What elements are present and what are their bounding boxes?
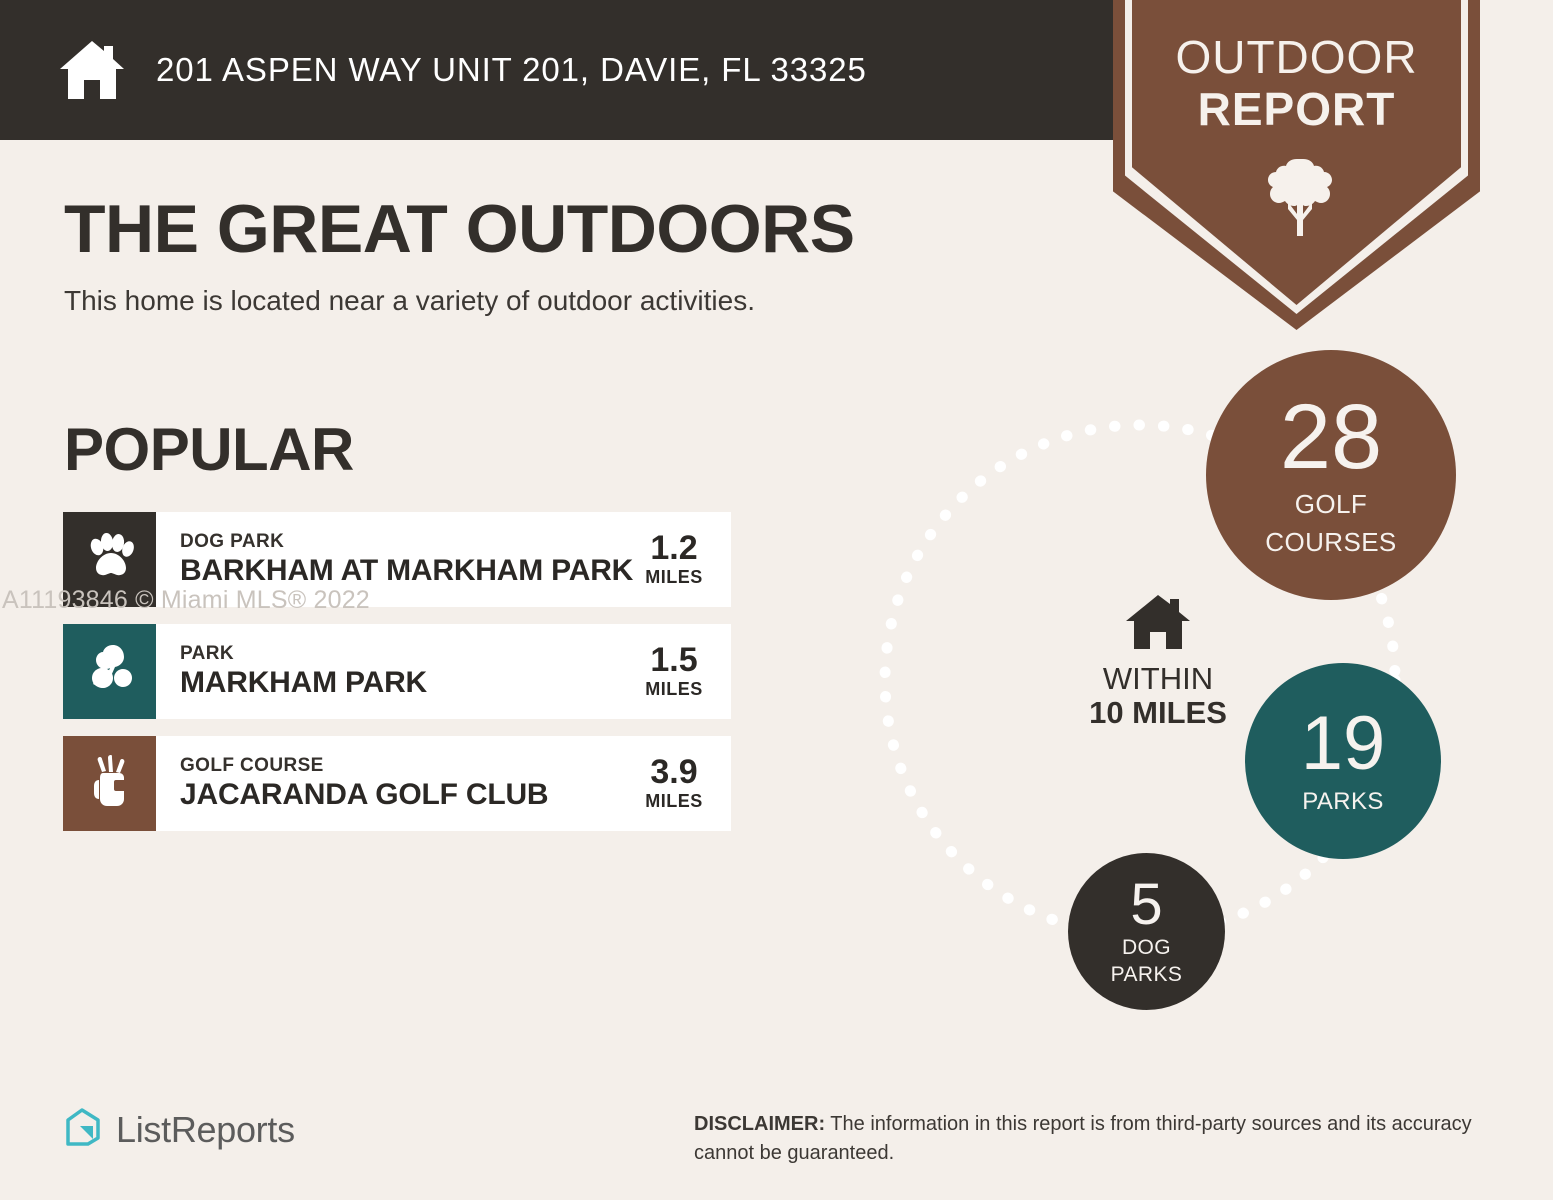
golf-bag-icon bbox=[87, 753, 133, 814]
poi-distance: 1.5 MILES bbox=[635, 643, 713, 700]
popular-poi-list: DOG PARK BARKHAM AT MARKHAM PARK 1.2 MIL… bbox=[63, 512, 731, 848]
stat-value: 5 bbox=[1130, 877, 1162, 932]
within-label: WITHIN bbox=[1068, 662, 1248, 696]
poi-icon-tile bbox=[63, 736, 156, 831]
list-item[interactable]: GOLF COURSE JACARANDA GOLF CLUB 3.9 MILE… bbox=[63, 736, 731, 831]
header-bar: 201 ASPEN WAY UNIT 201, DAVIE, FL 33325 bbox=[0, 0, 1113, 140]
poi-distance-value: 3.9 bbox=[635, 755, 713, 791]
poi-name: BARKHAM AT MARKHAM PARK bbox=[180, 553, 633, 589]
stat-label-line2: PARKS bbox=[1111, 964, 1183, 986]
poi-texts: GOLF COURSE JACARANDA GOLF CLUB bbox=[180, 754, 548, 814]
badge-title: OUTDOOR REPORT bbox=[1113, 34, 1480, 132]
poi-distance-unit: MILES bbox=[635, 679, 713, 700]
poi-category: DOG PARK bbox=[180, 530, 633, 554]
list-item[interactable]: PARK MARKHAM PARK 1.5 MILES bbox=[63, 624, 731, 719]
listreports-logo-icon bbox=[62, 1106, 104, 1153]
disclaimer: DISCLAIMER: The information in this repo… bbox=[694, 1110, 1494, 1168]
poi-distance-value: 1.2 bbox=[635, 531, 713, 567]
poi-distance-unit: MILES bbox=[635, 567, 713, 588]
poi-icon-tile bbox=[63, 624, 156, 719]
stat-label-line2: COURSES bbox=[1265, 529, 1396, 556]
badge-line-outdoor: OUTDOOR bbox=[1113, 34, 1480, 80]
stat-circle-dog-parks: 5 DOG PARKS bbox=[1068, 853, 1225, 1010]
trees-icon bbox=[83, 643, 137, 700]
within-10-miles-infographic: WITHIN 10 MILES 28 GOLF COURSES 19 PARKS… bbox=[840, 350, 1540, 1040]
stat-label-line1: GOLF bbox=[1295, 491, 1367, 518]
mls-watermark: A11193846 © Miami MLS® 2022 bbox=[2, 586, 370, 615]
infographic-center: WITHIN 10 MILES bbox=[1068, 593, 1248, 730]
poi-distance: 3.9 MILES bbox=[635, 755, 713, 812]
poi-distance: 1.2 MILES bbox=[635, 531, 713, 588]
home-icon bbox=[1068, 593, 1248, 656]
brand-name: ListReports bbox=[116, 1109, 295, 1151]
outdoor-report-badge: OUTDOOR REPORT bbox=[1113, 0, 1480, 330]
page-subtitle: This home is located near a variety of o… bbox=[64, 285, 755, 317]
poi-name: MARKHAM PARK bbox=[180, 665, 427, 701]
home-icon bbox=[58, 39, 126, 101]
stat-value: 28 bbox=[1280, 394, 1382, 481]
poi-distance-unit: MILES bbox=[635, 791, 713, 812]
property-address: 201 ASPEN WAY UNIT 201, DAVIE, FL 33325 bbox=[156, 51, 867, 89]
paw-icon bbox=[84, 531, 136, 588]
poi-texts: DOG PARK BARKHAM AT MARKHAM PARK bbox=[180, 530, 633, 590]
poi-category: GOLF COURSE bbox=[180, 754, 548, 778]
poi-texts: PARK MARKHAM PARK bbox=[180, 642, 427, 702]
stat-circle-golf-courses: 28 GOLF COURSES bbox=[1206, 350, 1456, 600]
miles-radius-label: 10 MILES bbox=[1068, 696, 1248, 730]
stat-value: 19 bbox=[1301, 708, 1386, 780]
poi-name: JACARANDA GOLF CLUB bbox=[180, 777, 548, 813]
poi-distance-value: 1.5 bbox=[635, 643, 713, 679]
badge-line-report: REPORT bbox=[1113, 86, 1480, 132]
popular-section-heading: POPULAR bbox=[64, 415, 354, 484]
page-title: THE GREAT OUTDOORS bbox=[64, 190, 855, 268]
tree-icon bbox=[1258, 155, 1336, 252]
stat-circle-parks: 19 PARKS bbox=[1245, 663, 1441, 859]
stat-label-line1: PARKS bbox=[1302, 789, 1384, 814]
poi-body: PARK MARKHAM PARK 1.5 MILES bbox=[156, 624, 731, 719]
listreports-brand[interactable]: ListReports bbox=[62, 1106, 295, 1153]
stat-label-line1: DOG bbox=[1122, 937, 1171, 959]
poi-category: PARK bbox=[180, 642, 427, 666]
poi-body: GOLF COURSE JACARANDA GOLF CLUB 3.9 MILE… bbox=[156, 736, 731, 831]
disclaimer-label: DISCLAIMER: bbox=[694, 1113, 825, 1135]
